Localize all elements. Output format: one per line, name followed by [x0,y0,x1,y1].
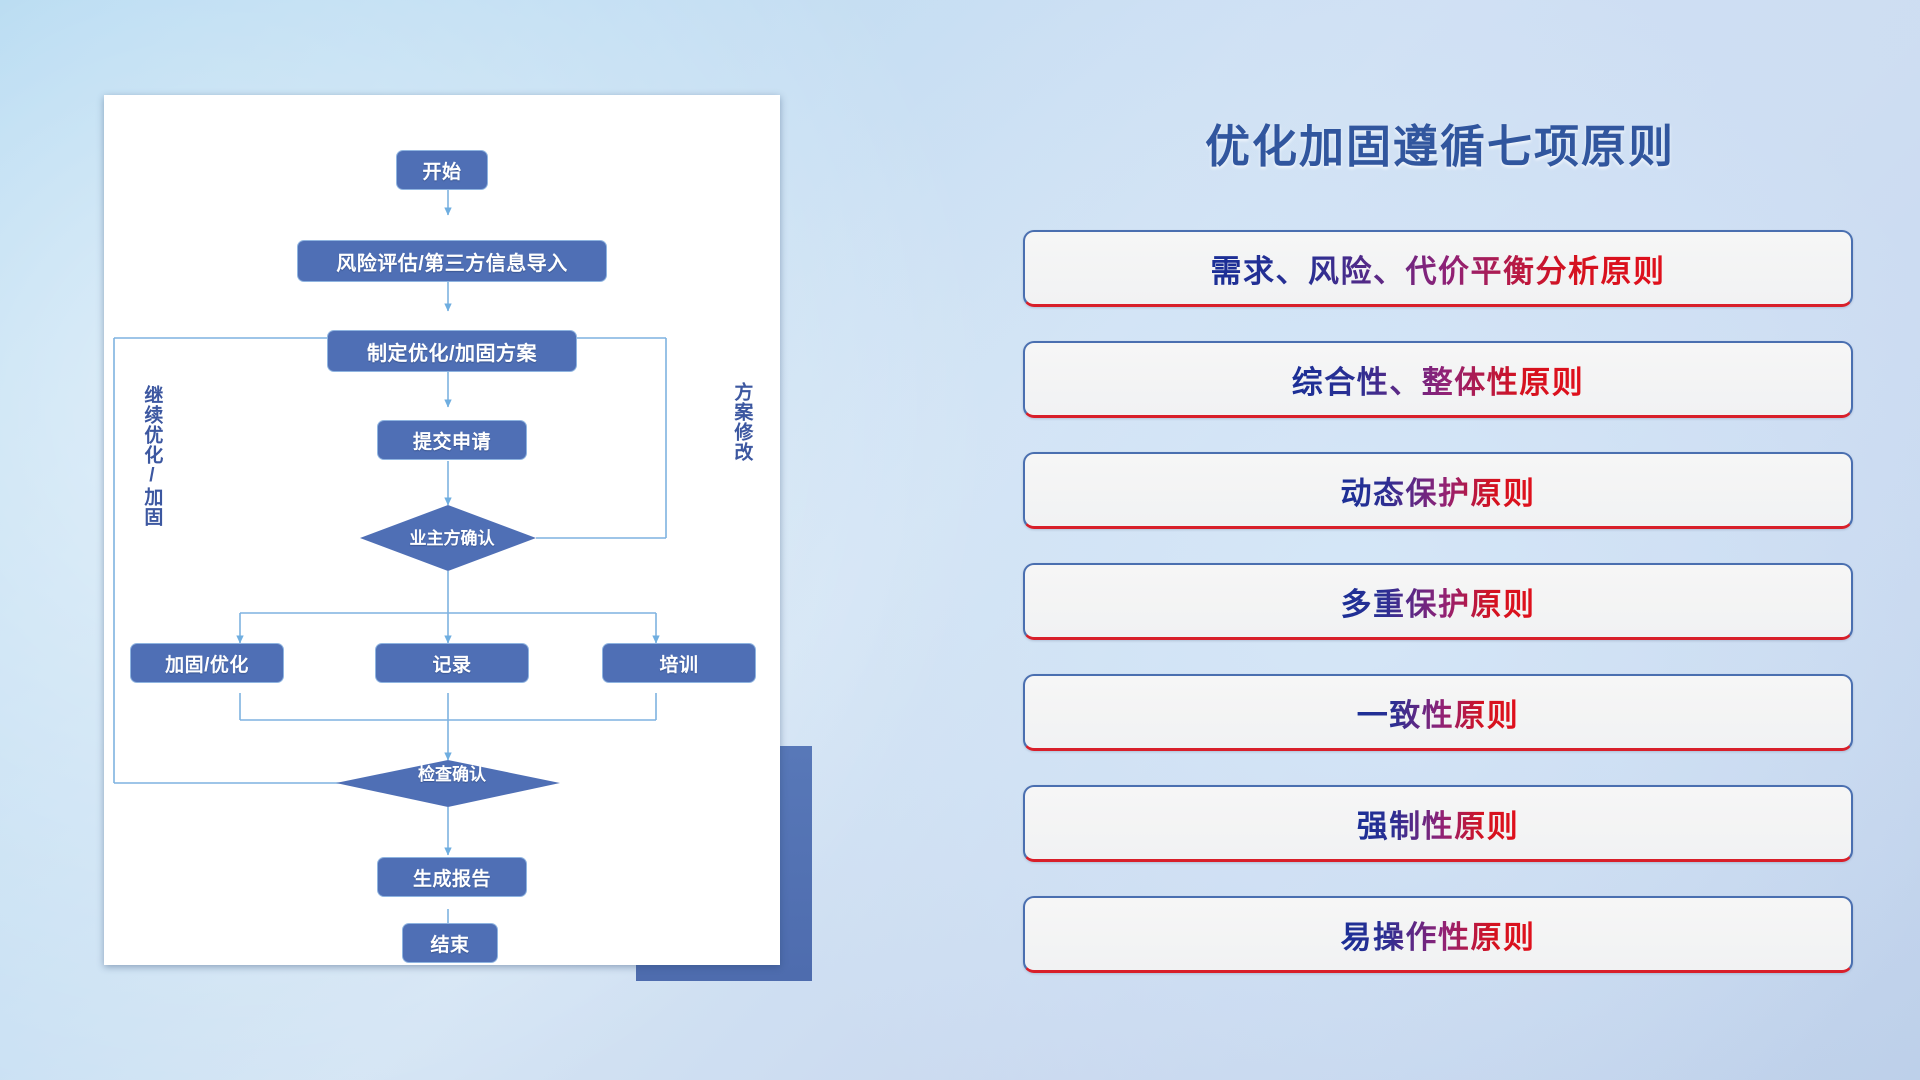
flow-node-start-label: 开始 [422,157,461,184]
flow-node-generate-report[interactable]: 生成报告 [377,857,527,897]
principle-label: 易操作性原则 [1341,912,1536,957]
decision-owner-confirm-shape [360,505,536,571]
principle-card[interactable]: 一致性原则 [1023,674,1853,751]
flow-node-generate-report-label: 生成报告 [413,864,491,891]
principle-label: 一致性原则 [1357,690,1520,735]
principle-card[interactable]: 多重保护原则 [1023,563,1853,640]
flow-node-risk-assessment[interactable]: 风险评估/第三方信息导入 [297,240,607,282]
flowchart-connectors [104,95,780,965]
decision-check-confirm-shape [336,760,560,807]
flow-node-submit-application[interactable]: 提交申请 [377,420,527,460]
principle-card[interactable]: 易操作性原则 [1023,896,1853,973]
principle-card[interactable]: 强制性原则 [1023,785,1853,862]
principle-label: 动态保护原则 [1341,468,1536,513]
flow-node-reinforce-optimize[interactable]: 加固/优化 [130,643,284,683]
flow-node-record[interactable]: 记录 [375,643,529,683]
flow-node-record-label: 记录 [432,650,471,677]
principle-label: 多重保护原则 [1341,579,1536,624]
principle-card[interactable]: 综合性、整体性原则 [1023,341,1853,418]
flow-node-submit-application-label: 提交申请 [413,427,491,454]
principle-card[interactable]: 需求、风险、代价平衡分析原则 [1023,230,1853,307]
principle-label: 需求、风险、代价平衡分析原则 [1211,246,1666,291]
flow-node-make-plan-label: 制定优化/加固方案 [367,337,537,366]
flow-node-training-label: 培训 [659,650,698,677]
flow-edge-label-plan-revision: 方案修改 [732,382,751,462]
flow-node-make-plan[interactable]: 制定优化/加固方案 [327,330,577,372]
flow-node-start[interactable]: 开始 [396,150,488,190]
flowchart-region: 开始 风险评估/第三方信息导入 制定优化/加固方案 提交申请 业主方确认 加固/… [0,0,960,1080]
principle-card[interactable]: 动态保护原则 [1023,452,1853,529]
flow-node-end[interactable]: 结束 [402,923,498,963]
principle-label: 综合性、整体性原则 [1292,357,1585,402]
principles-title: 优化加固遵循七项原则 [960,110,1920,175]
principles-region: 优化加固遵循七项原则 需求、风险、代价平衡分析原则 综合性、整体性原则 动态保护… [960,0,1920,1080]
principles-list: 需求、风险、代价平衡分析原则 综合性、整体性原则 动态保护原则 多重保护原则 一… [1023,230,1853,1007]
flow-node-risk-assessment-label: 风险评估/第三方信息导入 [336,247,568,276]
flow-node-end-label: 结束 [430,930,469,957]
flow-node-reinforce-optimize-label: 加固/优化 [165,650,249,677]
flow-node-training[interactable]: 培训 [602,643,756,683]
flow-edge-label-continue-optimize: 继续优化/加固 [142,385,161,527]
principle-label: 强制性原则 [1357,801,1520,846]
